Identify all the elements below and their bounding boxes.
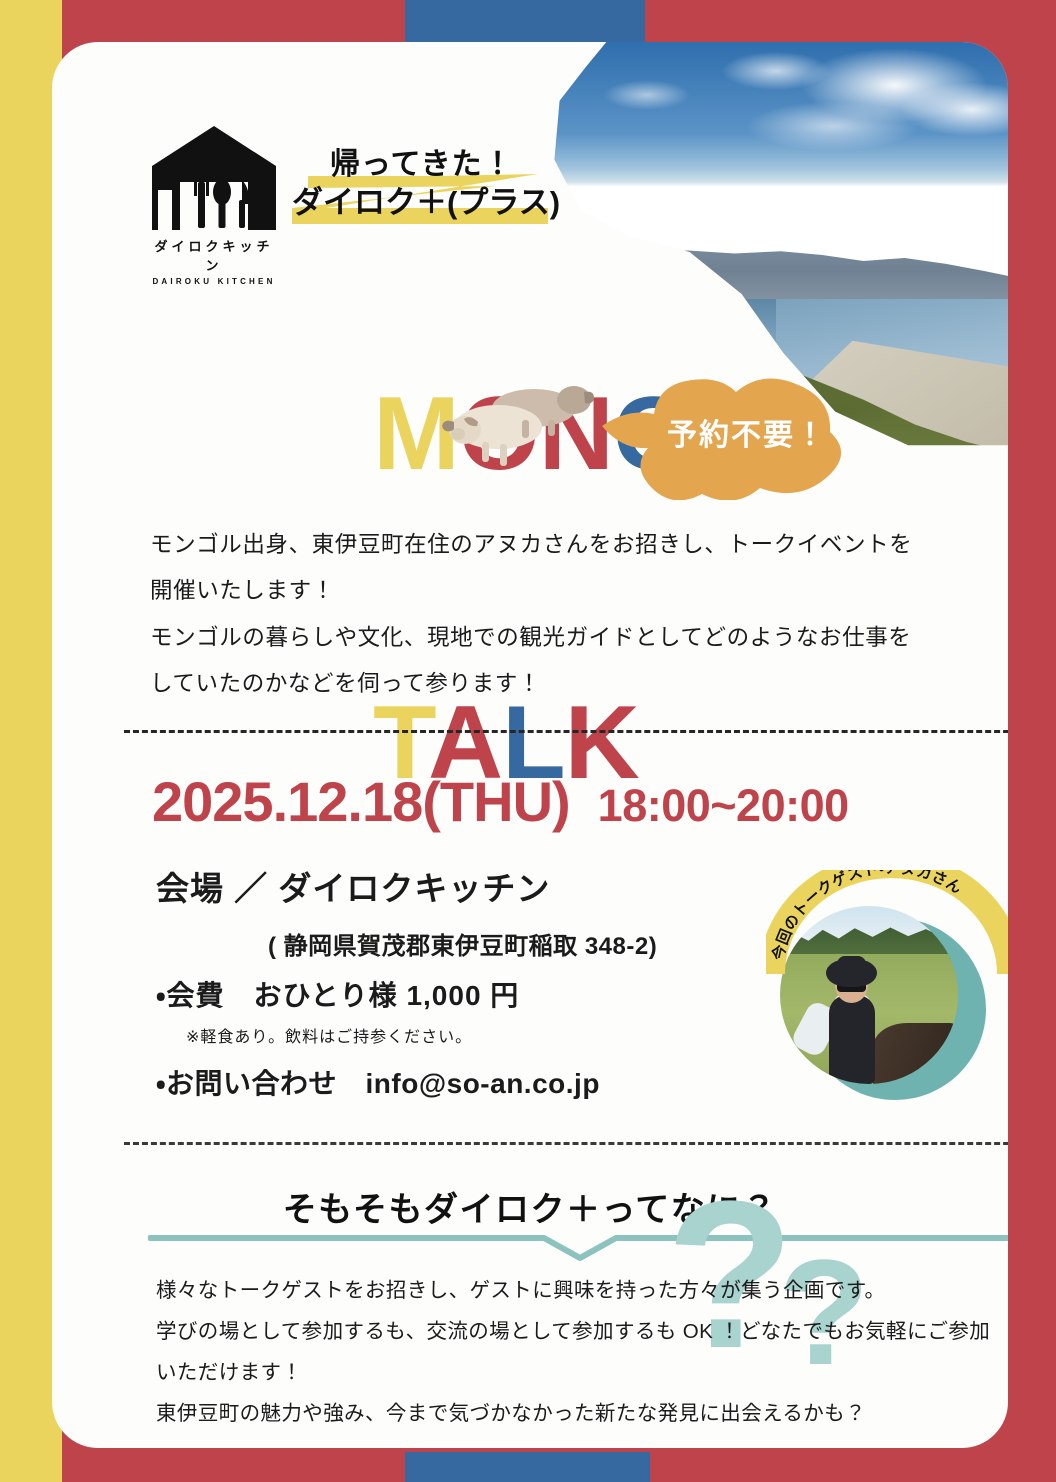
no-reservation-label: 予約不要！ <box>667 410 827 454</box>
sheep-photo-cutout <box>438 372 598 467</box>
fee-note: ※軽食あり。飲料はご持参ください。 <box>186 1023 519 1047</box>
guest-caption-arc: 今回のトークゲスト・アヌカさん <box>766 870 1008 1000</box>
kicker-line-1: 帰ってきた！ <box>292 148 572 183</box>
kicker-block: 帰ってきた！ ダイロク＋(プラス) <box>292 148 572 221</box>
guest-caption-text: 今回のトークゲスト・アヌカさん <box>769 870 965 962</box>
section-body-line-4: 東伊豆町の魅力や強み、今まで気づかなかった新たな発見に出会えるかも？ <box>156 1393 1008 1434</box>
frame-blue-bottom-segment <box>405 1452 650 1482</box>
section-body-line-3: いただけます！ <box>156 1352 1008 1393</box>
dairoku-kitchen-logo: ダイロクキッチン DAIROKU KITCHEN <box>148 122 280 286</box>
venue-name: 会場 ／ ダイロクキッチン <box>156 862 657 910</box>
event-fee-block: ・会費 おひとり様 1,000 円 ※軽食あり。飲料はご持参ください。 <box>156 974 519 1047</box>
contact-line[interactable]: ・お問い合わせ info@so-an.co.jp <box>156 1062 600 1102</box>
divider-dashed-top <box>124 730 1008 733</box>
guest-photo-vest <box>829 995 875 1084</box>
section-heading: そもそもダイロク＋ってなに？ <box>52 1182 1008 1231</box>
guest-figure: 今回のトークゲスト・アヌカさん <box>766 870 1008 1100</box>
section-body-line-2: 学びの場として参加するも、交流の場として参加するも OK ！どなたでもお気軽にご… <box>156 1311 1008 1352</box>
kicker-line-2: ダイロク＋(プラス) <box>292 185 572 221</box>
house-cutlery-icon <box>148 122 280 232</box>
venue-address: ( 静岡県賀茂郡東伊豆町稲取 348-2) <box>268 926 657 961</box>
description-line-4: していたのかなどを伺って参ります！ <box>150 661 1008 707</box>
logo-label-jp: ダイロクキッチン <box>148 236 280 274</box>
description-line-1: モンゴル出身、東伊豆町在住のアヌカさんをお招きし、トークイベントを <box>150 522 1008 568</box>
section-body-line-1: 様々なトークゲストをお招きし、ゲストに興味を持った方々が集う企画です。 <box>156 1270 1008 1311</box>
section-body: 様々なトークゲストをお招きし、ゲストに興味を持った方々が集う企画です。 学びの場… <box>156 1270 1008 1434</box>
description-line-3: モンゴルの暮らしや文化、現地での観光ガイドとしてどのようなお仕事を <box>150 615 1008 661</box>
event-date: 2025.12.18(THU) <box>152 769 570 834</box>
description-line-2: 開催いたします！ <box>150 568 1008 614</box>
section-underline-notched <box>148 1232 1008 1262</box>
svg-text:今回のトークゲスト・アヌカさん: 今回のトークゲスト・アヌカさん <box>769 870 965 962</box>
poster-card: ダイロクキッチン DAIROKU KITCHEN 帰ってきた！ ダイロク＋(プラ… <box>52 42 1008 1448</box>
event-time: 18:00~20:00 <box>598 780 849 832</box>
event-venue-block: 会場 ／ ダイロクキッチン ( 静岡県賀茂郡東伊豆町稲取 348-2) <box>156 862 657 961</box>
event-datetime: 2025.12.18(THU) 18:00~20:00 <box>152 769 849 834</box>
event-description: モンゴル出身、東伊豆町在住のアヌカさんをお招きし、トークイベントを 開催いたしま… <box>150 522 1008 707</box>
fee-amount: ・会費 おひとり様 1,000 円 <box>156 974 519 1014</box>
frame-blue-top-segment <box>405 0 645 42</box>
divider-dashed-bottom <box>124 1142 1008 1145</box>
poster-root: ダイロクキッチン DAIROKU KITCHEN 帰ってきた！ ダイロク＋(プラ… <box>0 0 1056 1482</box>
